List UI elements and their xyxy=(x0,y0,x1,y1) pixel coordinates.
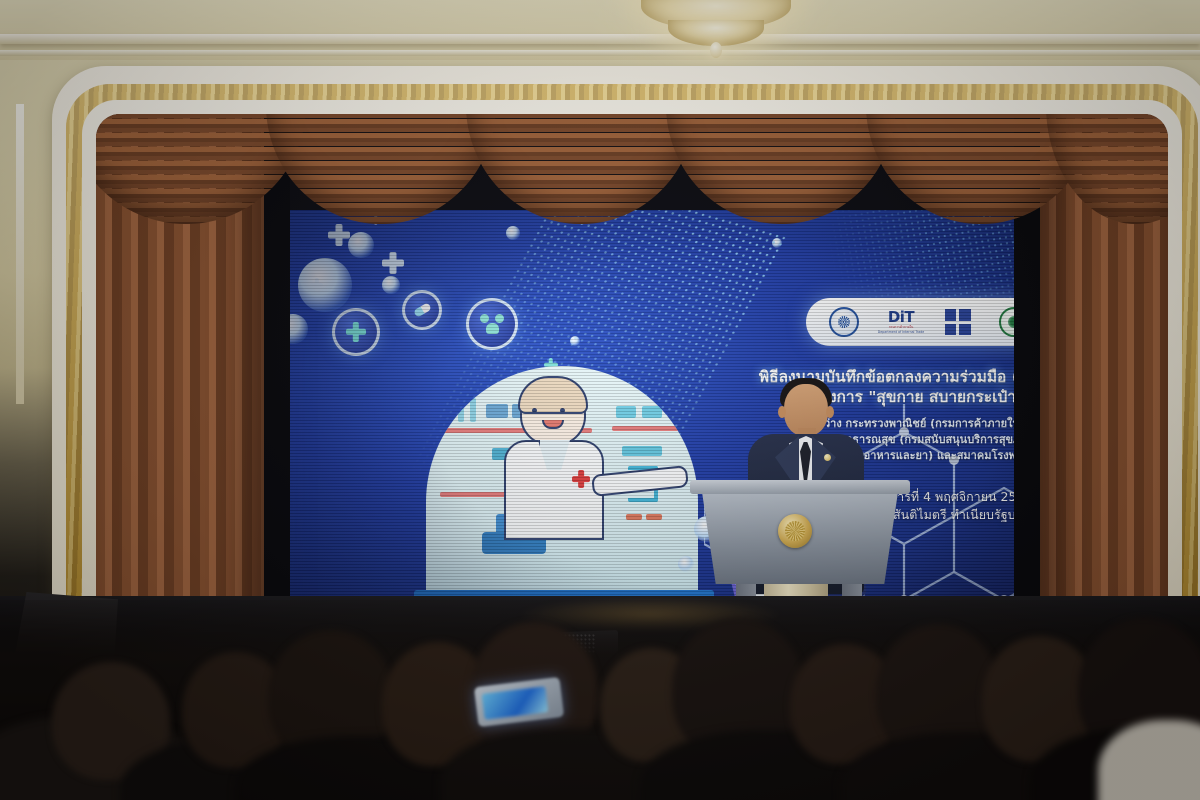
proscenium-arch: DiT กรมการค้าภายใน Department of Interna… xyxy=(52,38,1200,678)
curtain-valance xyxy=(96,114,1168,226)
thai-government-garuda-emblem xyxy=(778,514,812,548)
photograph-root: DiT กรมการค้าภายใน Department of Interna… xyxy=(0,0,1200,800)
wall-molding-left xyxy=(16,104,24,404)
lapel-pin-icon xyxy=(824,454,831,461)
audience-foreground xyxy=(0,600,1200,800)
podium-top xyxy=(690,480,910,494)
